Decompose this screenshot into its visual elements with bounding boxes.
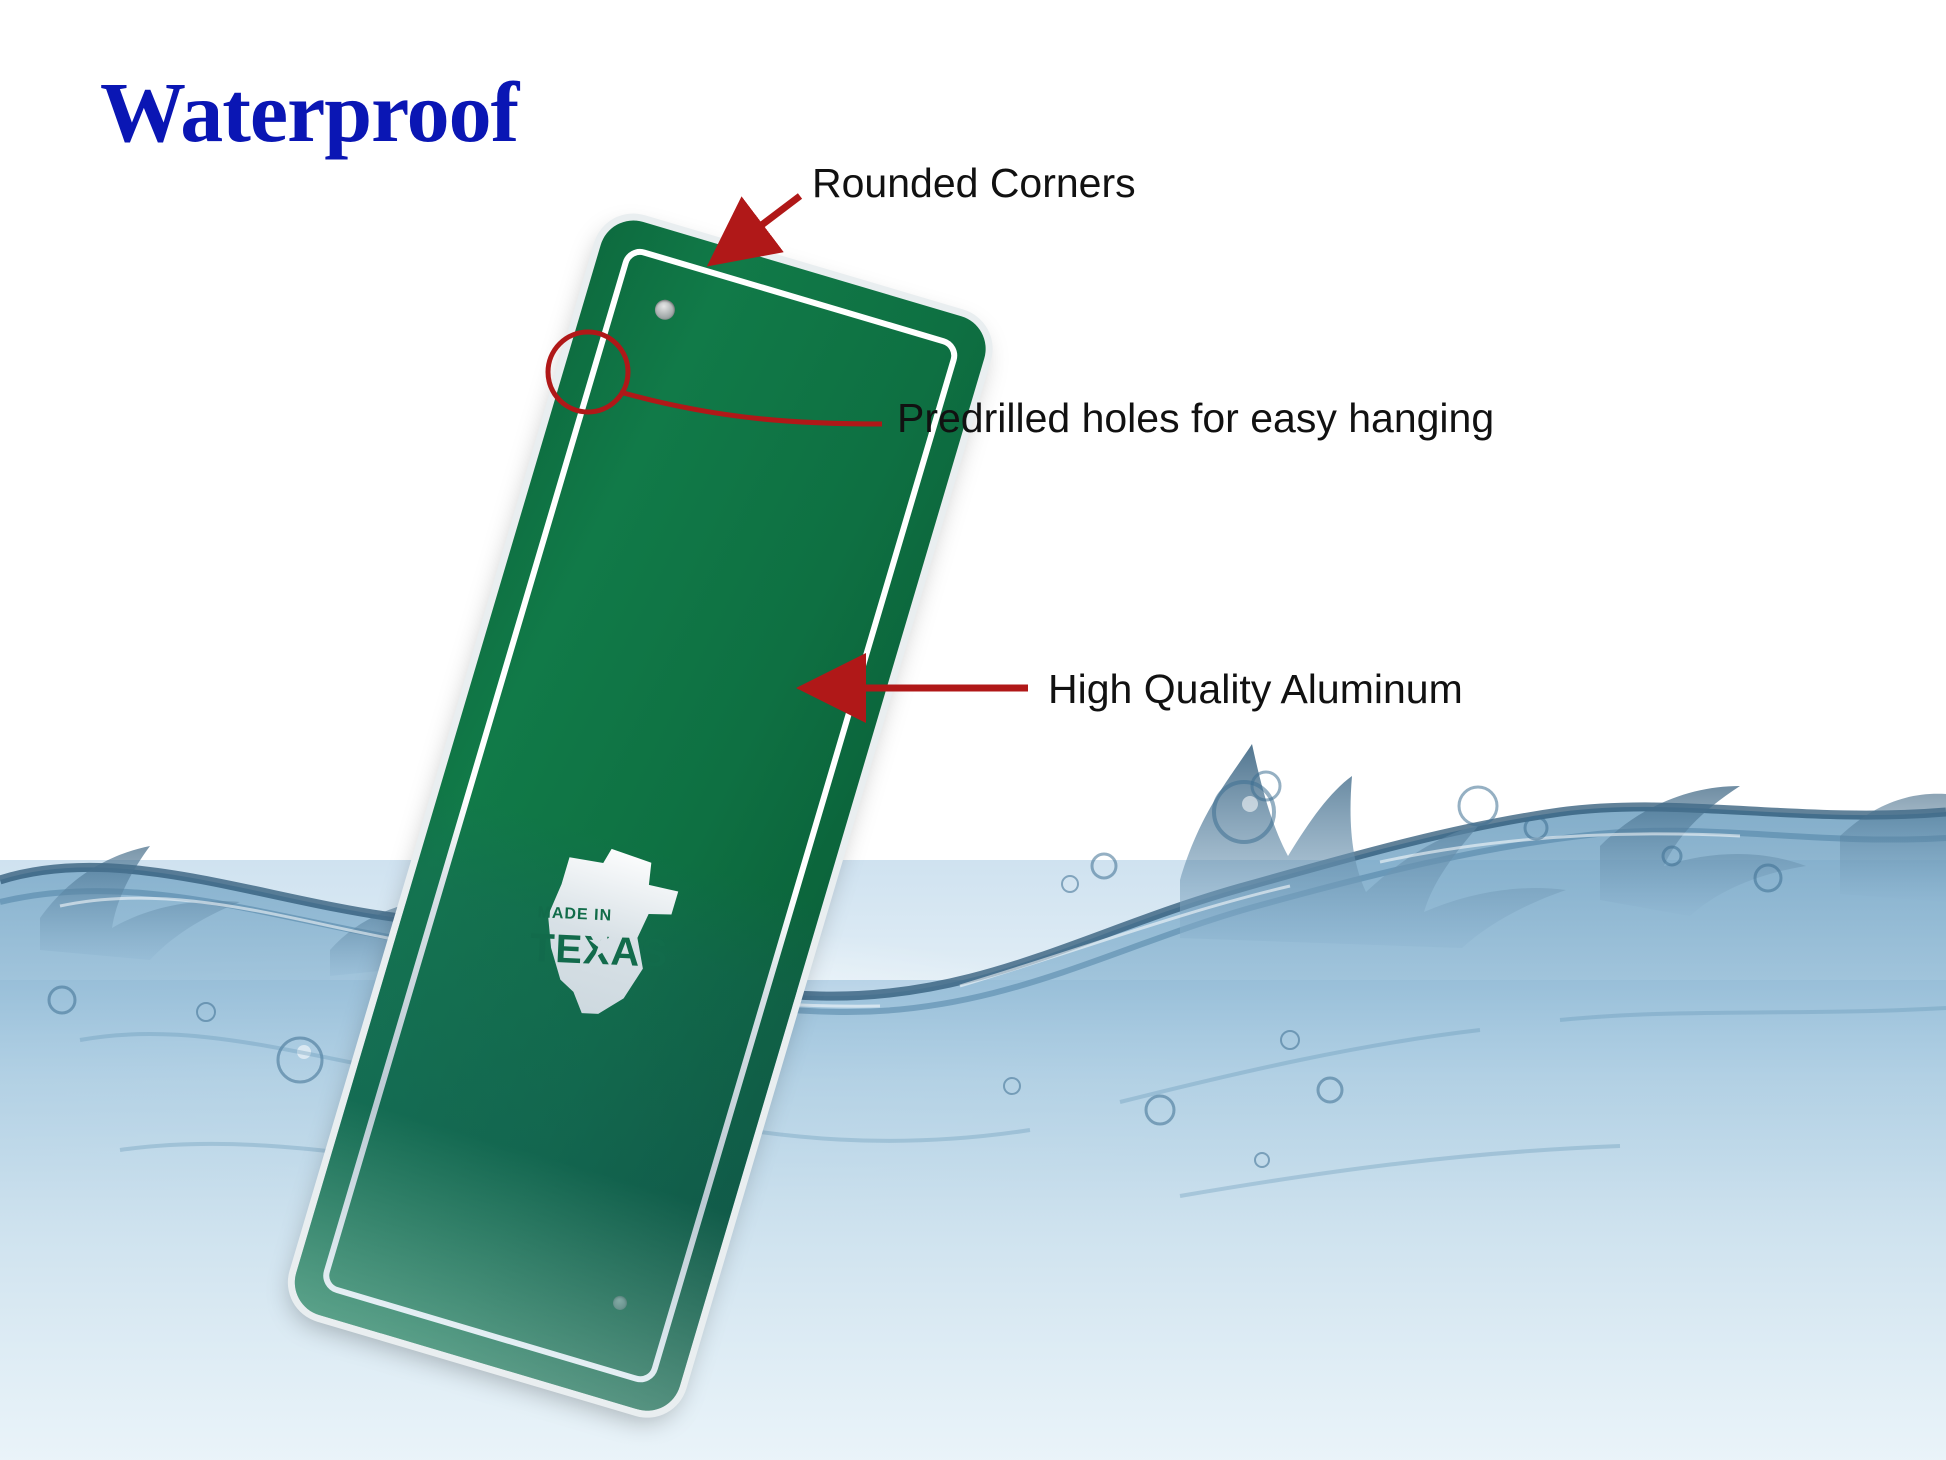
annotation-rounded-corners: Rounded Corners <box>812 160 1136 207</box>
product-feature-image: MADE IN TEXAS ★ Waterproof Rounded Corne… <box>0 0 1946 1460</box>
water-background <box>0 0 1946 1460</box>
badge-text-group: MADE IN TEXAS ★ <box>509 837 707 1035</box>
texas-star-icon: ★ <box>583 924 625 966</box>
annotation-high-quality-aluminum: High Quality Aluminum <box>1048 666 1463 713</box>
waterproof-title: Waterproof <box>100 62 518 162</box>
annotation-predrilled-holes: Predrilled holes for easy hanging <box>897 395 1494 442</box>
water-depth-band <box>0 980 1946 1200</box>
made-in-texas-badge: MADE IN TEXAS ★ <box>490 818 726 1054</box>
